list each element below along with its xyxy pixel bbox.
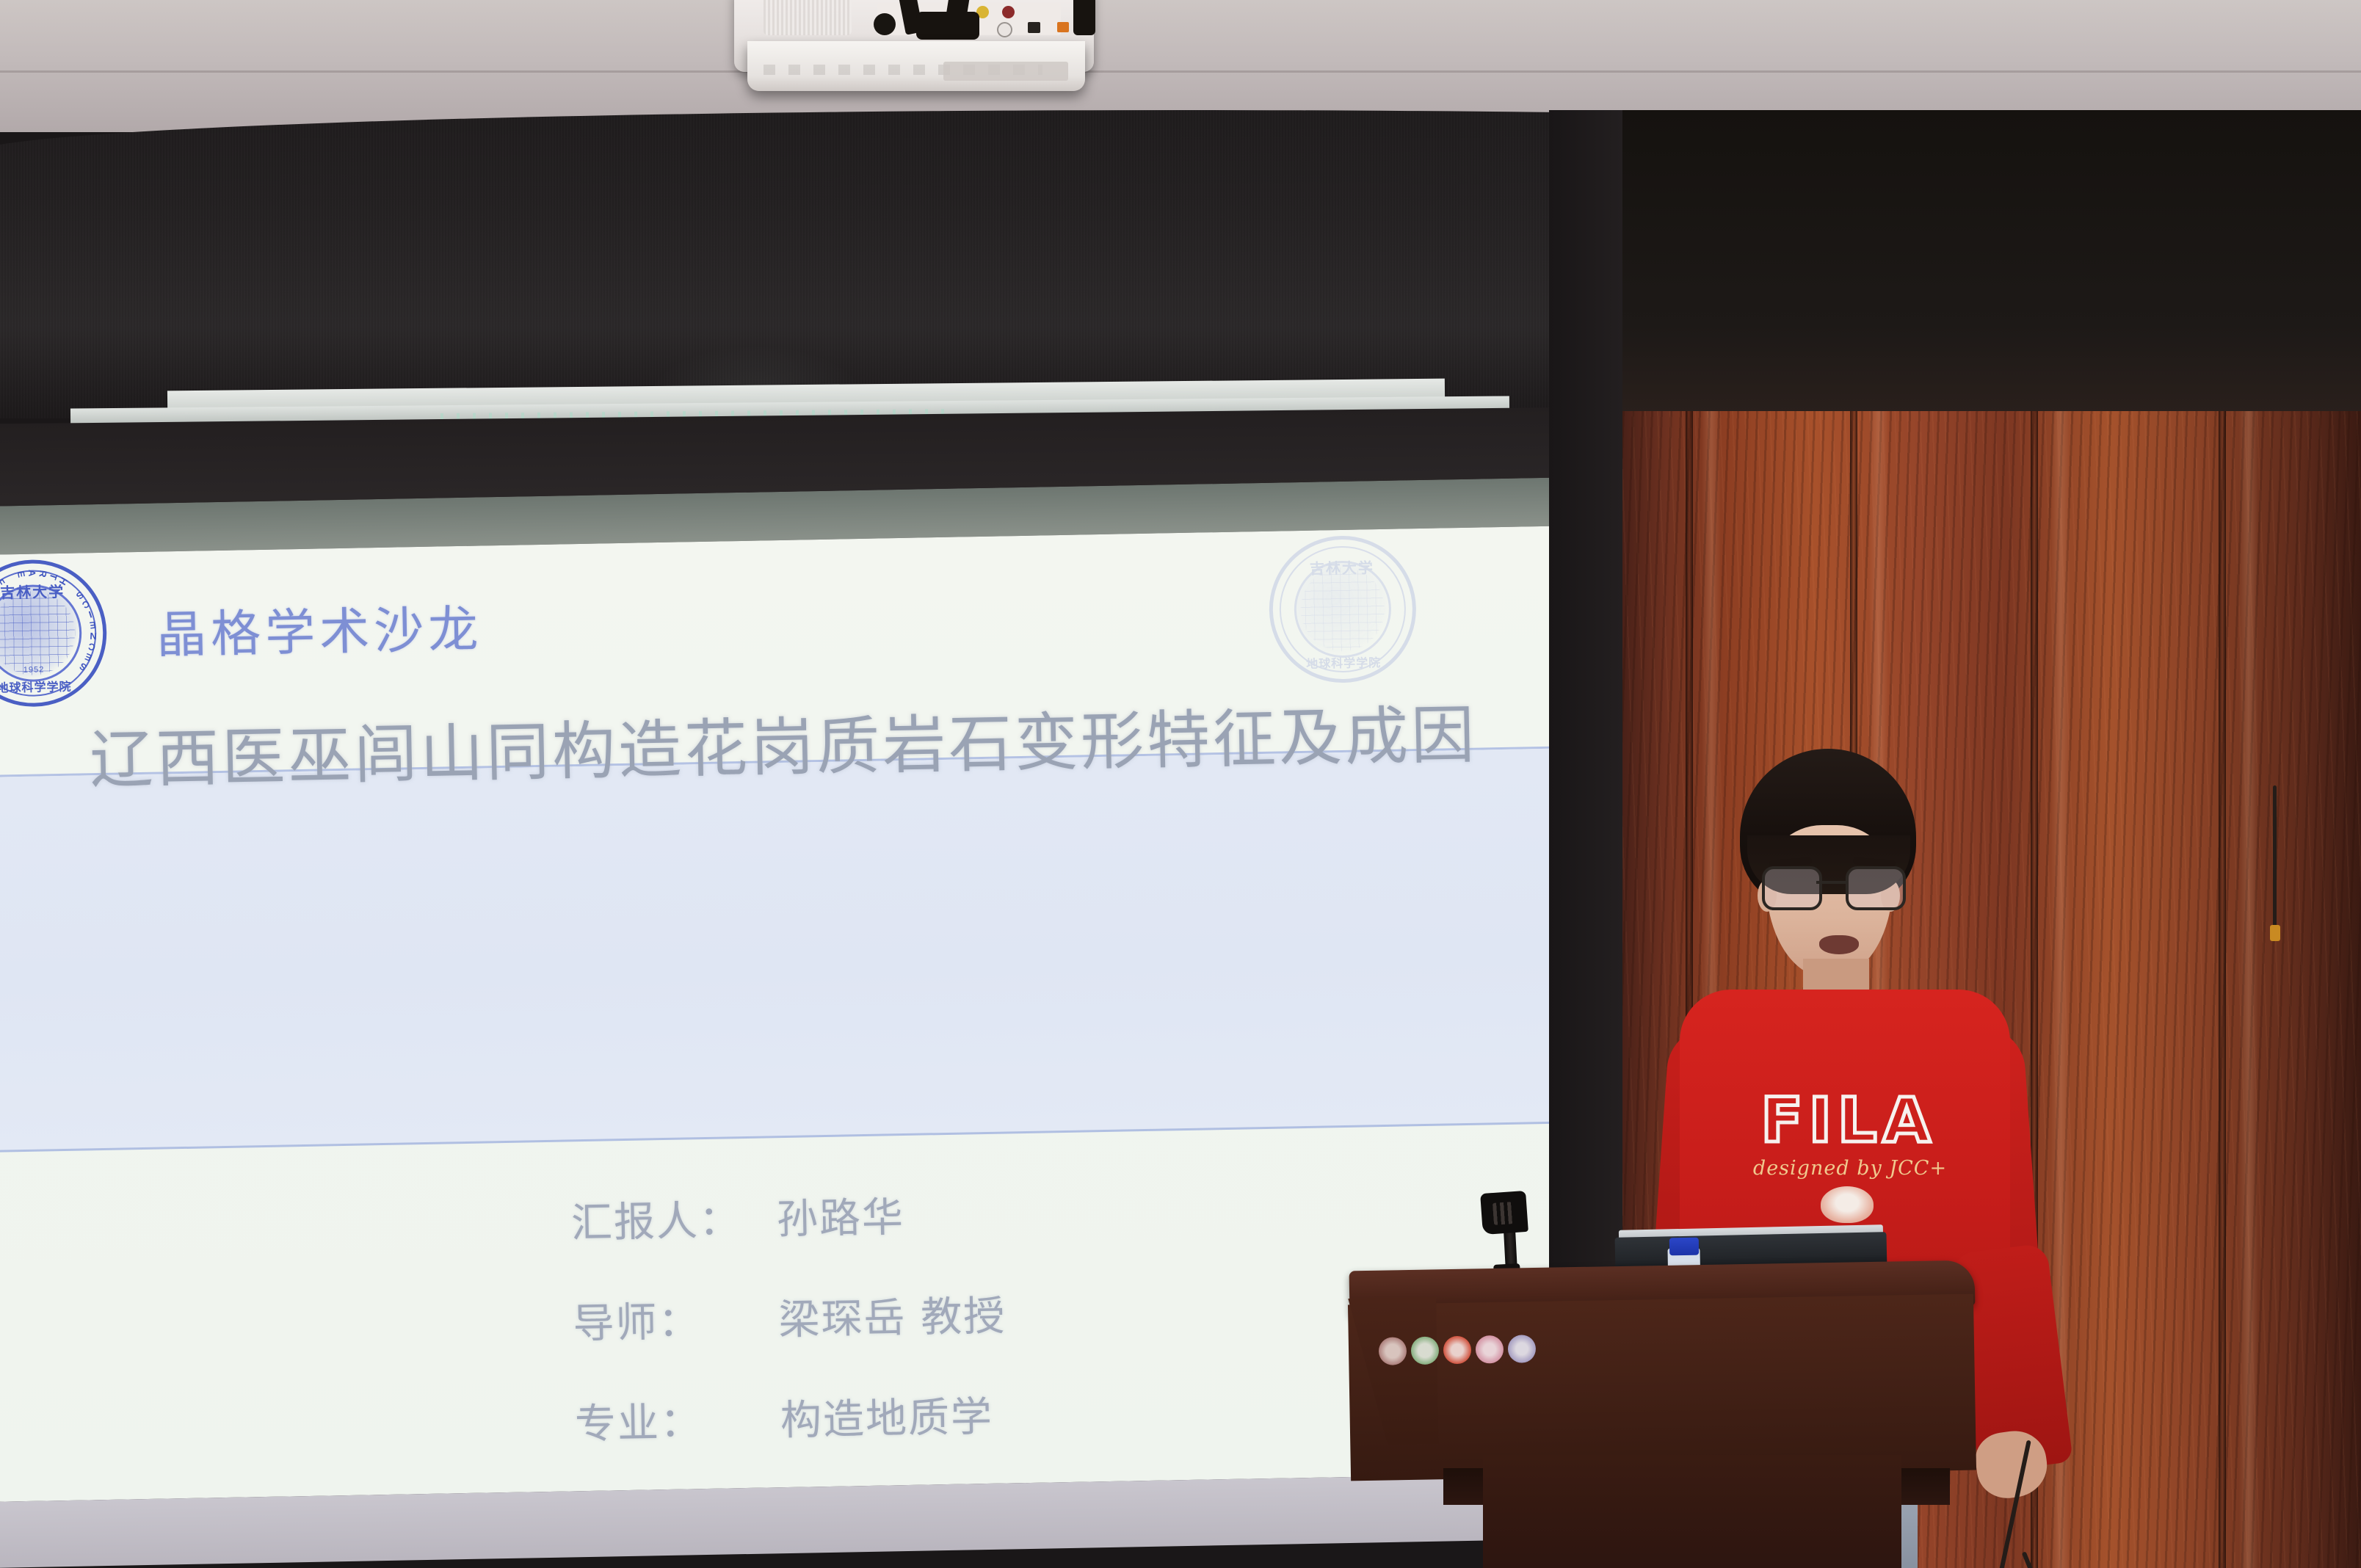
seal-ring-letter: E xyxy=(89,620,97,631)
sticker-badge xyxy=(1379,1337,1407,1365)
shirt-subtext: designed by JCC+ xyxy=(1749,1157,1951,1180)
seal-ring-letter: F xyxy=(0,577,7,588)
salon-title: 晶格学术沙龙 xyxy=(156,588,483,667)
sticker-badge xyxy=(1411,1336,1440,1365)
seal-ring-letter: E xyxy=(15,570,27,578)
projector-lower-grille xyxy=(943,62,1068,81)
meta-label: 导师： xyxy=(573,1287,779,1350)
meta-value: 构造地质学 xyxy=(780,1382,1057,1447)
seal-ring-letter: N xyxy=(90,631,97,642)
sticker-badge xyxy=(1508,1335,1537,1363)
seal-english-ring-text: COLLEGE OF EARTH SCIENCES xyxy=(0,559,108,708)
projector-cable xyxy=(1073,0,1095,35)
water-bottle-cap xyxy=(1669,1238,1699,1256)
black-port-icon xyxy=(1028,22,1040,33)
presenter-mouth xyxy=(1819,935,1859,954)
orange-port-icon xyxy=(1057,22,1069,32)
podium-base-column xyxy=(1483,1455,1901,1568)
white-rca-port-icon xyxy=(997,22,1012,37)
meta-value: 孙路华 xyxy=(776,1181,1053,1246)
seal-ring-letter: I xyxy=(87,609,93,620)
shirt-mascot-graphic xyxy=(1821,1186,1874,1223)
meta-label: 专业： xyxy=(574,1387,780,1451)
cable-connector-tip xyxy=(2270,925,2280,941)
meta-value: 梁琛岳 教授 xyxy=(778,1282,1056,1346)
meta-row-presenter: 汇报人： 孙路华 xyxy=(570,1181,1053,1249)
seal-ring-letter: A xyxy=(26,570,37,577)
wood-panel-highlight xyxy=(2239,411,2258,1568)
microphone-wire xyxy=(2022,1551,2059,1568)
college-seal-logo: 吉林大学 1952 地球科学学院 COLLEGE OF EARTH SCIENC… xyxy=(0,559,108,708)
seal-chinese-bottom: 地球科学学院 xyxy=(1270,652,1417,672)
red-rca-port-icon xyxy=(1002,6,1015,18)
podium-sticker-row xyxy=(1379,1335,1541,1368)
projector-cable-connector xyxy=(916,12,979,40)
wood-wall-upper-shadow xyxy=(1622,110,2361,418)
projector-vent-grille xyxy=(764,0,852,35)
hanging-cable xyxy=(2273,785,2277,932)
college-seal-watermark: 吉林大学 地球科学学院 xyxy=(1268,534,1418,684)
glasses-lens-right xyxy=(1846,866,1906,910)
microphone-grille xyxy=(1493,1202,1513,1225)
podium-front-face xyxy=(1348,1294,1976,1481)
ceiling-seam xyxy=(0,70,2361,73)
glasses-icon xyxy=(1760,866,1901,907)
lecture-hall-photo: 吉林大学 1952 地球科学学院 COLLEGE OF EARTH SCIENC… xyxy=(0,0,2361,1568)
glasses-lens-left xyxy=(1762,866,1822,910)
meta-row-advisor: 导师： 梁琛岳 教授 xyxy=(573,1282,1056,1350)
projector-knob xyxy=(874,13,896,35)
seal-chinese-top: 吉林大学 xyxy=(1269,555,1415,579)
meta-row-major: 专业： 构造地质学 xyxy=(574,1382,1057,1451)
sticker-badge xyxy=(1443,1336,1472,1365)
seal-ring-letter: H xyxy=(57,576,70,587)
sticker-badge xyxy=(1476,1335,1504,1364)
slide-title-band xyxy=(0,747,1620,1153)
glasses-bridge xyxy=(1816,881,1846,884)
meta-label: 汇报人： xyxy=(570,1186,777,1249)
fila-brand-logo: FILA xyxy=(1738,1085,1959,1155)
wood-panel-seam xyxy=(2219,411,2226,1568)
seal-ring-letter: S xyxy=(77,661,89,673)
